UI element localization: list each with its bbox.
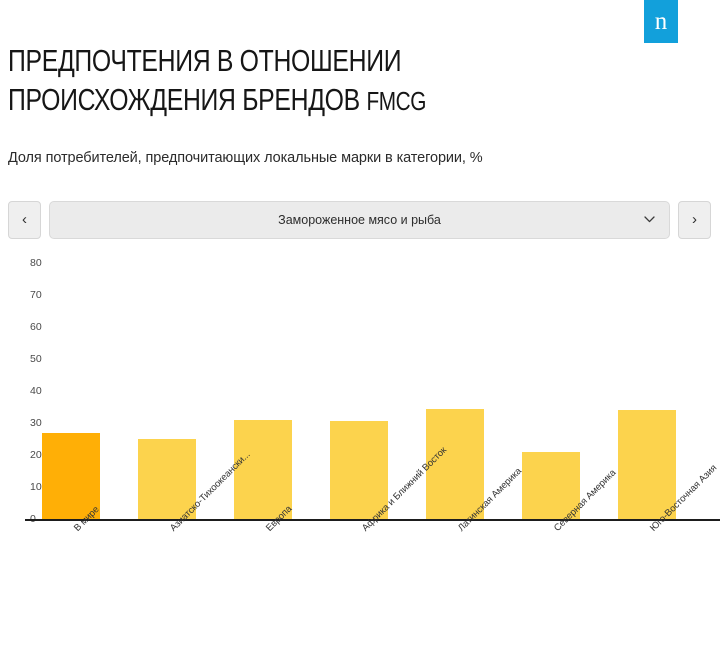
- chevron-down-icon: [644, 202, 655, 238]
- category-selector: ‹ Замороженное мясо и рыба ›: [8, 201, 719, 239]
- category-dropdown[interactable]: Замороженное мясо и рыба: [49, 201, 670, 239]
- category-dropdown-label: Замороженное мясо и рыба: [50, 202, 669, 238]
- page-title-suffix: FMCG: [366, 86, 426, 116]
- logo-letter: n: [655, 8, 668, 35]
- chevron-right-icon: ›: [692, 211, 697, 228]
- bar-chart: 80706050403020100 В миреАзиатско-Тихооке…: [0, 250, 727, 647]
- page-title: ПРЕДПОЧТЕНИЯ В ОТНОШЕНИИПРОИСХОЖДЕНИЯ БР…: [8, 41, 504, 121]
- bars-layer: [30, 263, 720, 519]
- bar[interactable]: [330, 421, 388, 519]
- nielsen-logo: n: [644, 0, 678, 43]
- prev-category-button[interactable]: ‹: [8, 201, 41, 239]
- page-title-line1: ПРЕДПОЧТЕНИЯ В ОТНОШЕНИИ: [8, 43, 401, 78]
- bar[interactable]: [618, 410, 676, 519]
- page-title-line2: ПРОИСХОЖДЕНИЯ БРЕНДОВ: [8, 82, 366, 117]
- page-header: n ПРЕДПОЧТЕНИЯ В ОТНОШЕНИИПРОИСХОЖДЕНИЯ …: [0, 0, 727, 135]
- chart-subtitle: Доля потребителей, предпочитающих локаль…: [8, 150, 483, 166]
- chevron-left-icon: ‹: [22, 211, 27, 228]
- next-category-button[interactable]: ›: [678, 201, 711, 239]
- bar[interactable]: [234, 420, 292, 519]
